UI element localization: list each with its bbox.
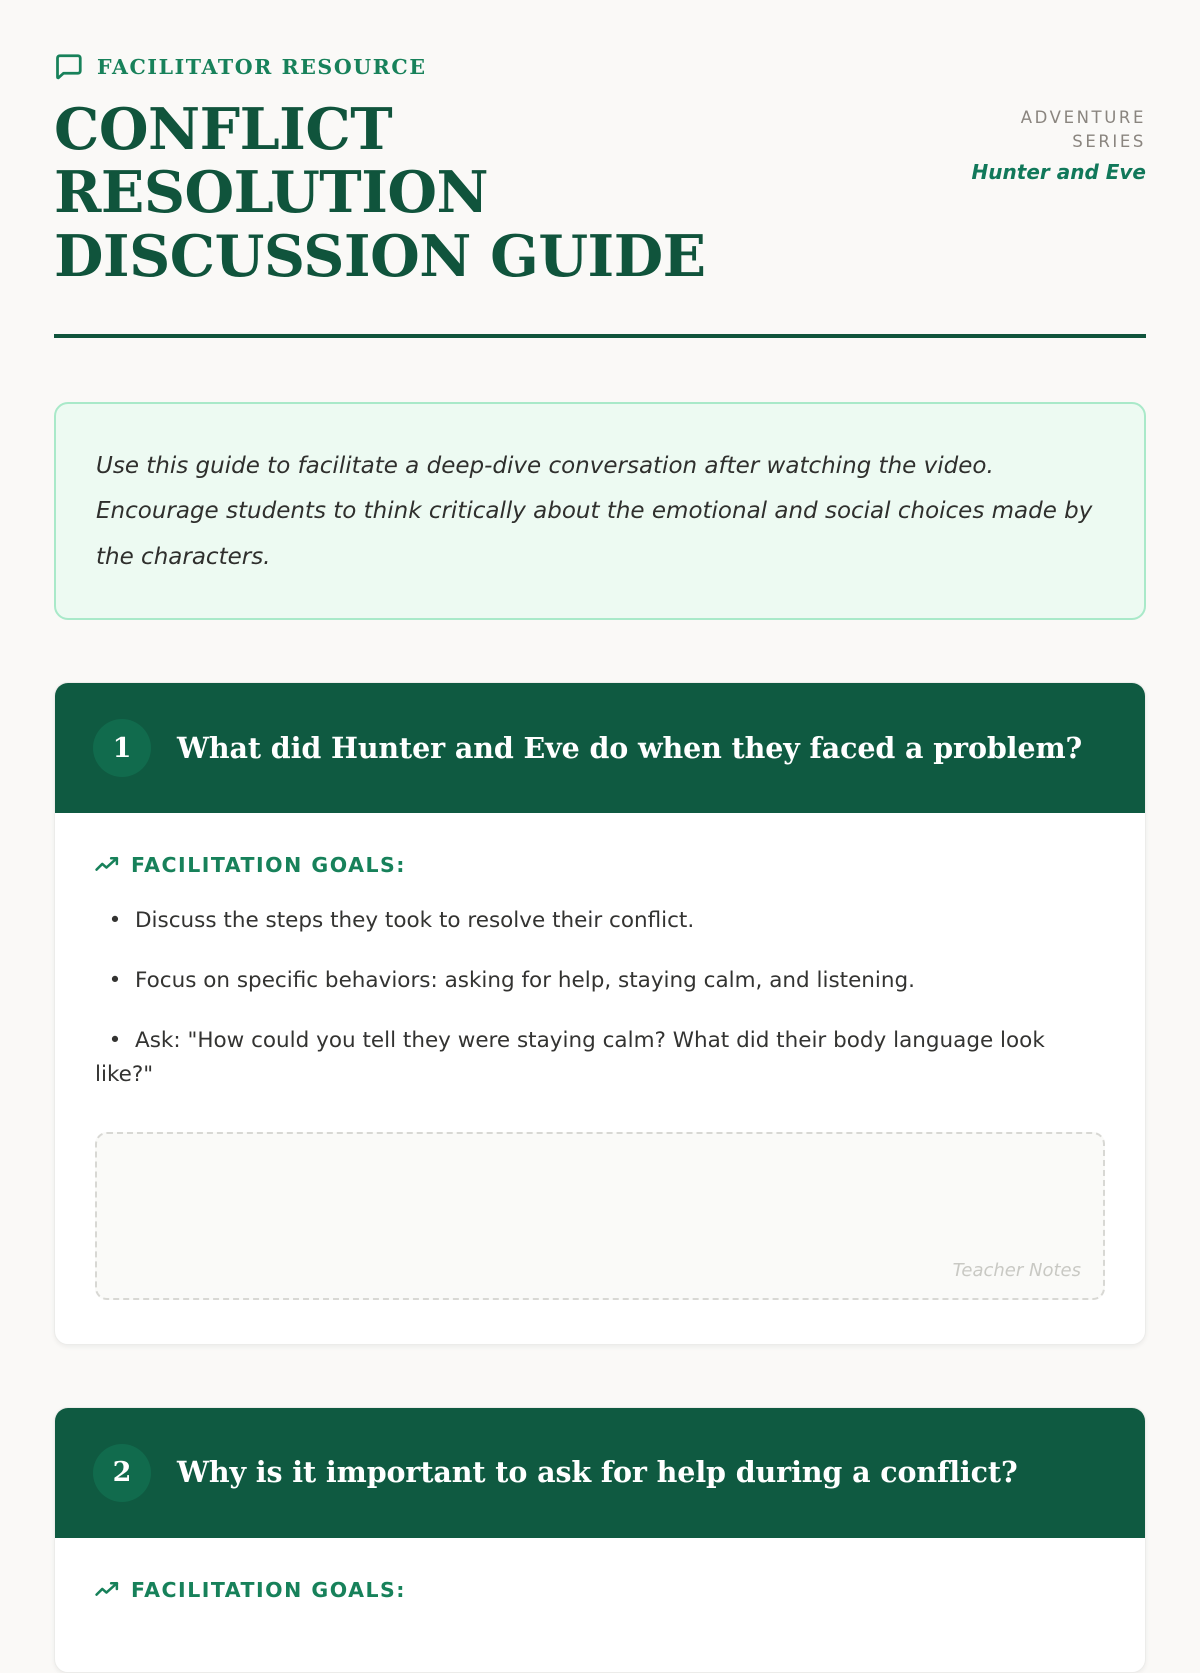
question-card-header: 1 What did Hunter and Eve do when they f… xyxy=(55,683,1145,813)
question-card-body: FACILITATION GOALS: xyxy=(55,1538,1145,1673)
eyebrow: FACILITATOR RESOURCE xyxy=(54,52,901,82)
header-right-group: ADVENTURE SERIES Hunter and Eve xyxy=(941,44,1146,187)
trending-up-icon xyxy=(95,856,120,875)
question-card: 1 What did Hunter and Eve do when they f… xyxy=(54,682,1146,1344)
facilitation-goals-label: FACILITATION GOALS: xyxy=(131,855,406,876)
page-header: FACILITATOR RESOURCE CONFLICT RESOLUTION… xyxy=(54,44,1146,288)
goal-text: Discuss the steps they took to resolve t… xyxy=(135,908,694,933)
question-card: 2 Why is it important to ask for help du… xyxy=(54,1407,1146,1673)
question-text: What did Hunter and Eve do when they fac… xyxy=(177,730,1082,767)
question-card-header: 2 Why is it important to ask for help du… xyxy=(55,1408,1145,1538)
eyebrow-label: FACILITATOR RESOURCE xyxy=(97,57,427,78)
goal-text: Ask: "How could you tell they were stayi… xyxy=(95,1028,1045,1087)
series-label: ADVENTURE SERIES xyxy=(941,106,1146,155)
speech-bubble-icon xyxy=(54,52,84,82)
bullet-icon: • xyxy=(95,1024,135,1058)
teacher-notes-label: Teacher Notes xyxy=(953,1262,1081,1280)
trending-up-icon xyxy=(95,1581,120,1600)
goals-list: •Discuss the steps they took to resolve … xyxy=(95,904,1105,1092)
header-divider xyxy=(54,334,1146,338)
series-title: Hunter and Eve xyxy=(941,157,1146,187)
intro-callout: Use this guide to facilitate a deep-dive… xyxy=(54,402,1146,621)
facilitation-goals-heading: FACILITATION GOALS: xyxy=(95,1580,1105,1601)
facilitation-goals-heading: FACILITATION GOALS: xyxy=(95,855,1105,876)
question-number-badge: 1 xyxy=(93,719,151,777)
page-title: CONFLICT RESOLUTION DISCUSSION GUIDE xyxy=(54,98,814,288)
intro-text: Use this guide to facilitate a deep-dive… xyxy=(96,444,1104,581)
list-item: •Focus on specific behaviors: asking for… xyxy=(95,964,1105,998)
header-left-group: FACILITATOR RESOURCE CONFLICT RESOLUTION… xyxy=(54,44,901,288)
bullet-icon: • xyxy=(95,904,135,938)
question-card-body: FACILITATION GOALS: •Discuss the steps t… xyxy=(55,813,1145,1343)
teacher-notes-box[interactable]: Teacher Notes xyxy=(95,1132,1105,1300)
goal-text: Focus on specific behaviors: asking for … xyxy=(135,968,915,993)
question-text: Why is it important to ask for help duri… xyxy=(177,1454,1018,1491)
bullet-icon: • xyxy=(95,964,135,998)
list-item: •Ask: "How could you tell they were stay… xyxy=(95,1024,1105,1092)
discussion-guide-page: FACILITATOR RESOURCE CONFLICT RESOLUTION… xyxy=(0,0,1200,1673)
question-number-badge: 2 xyxy=(93,1444,151,1502)
list-item: •Discuss the steps they took to resolve … xyxy=(95,904,1105,938)
facilitation-goals-label: FACILITATION GOALS: xyxy=(131,1580,406,1601)
